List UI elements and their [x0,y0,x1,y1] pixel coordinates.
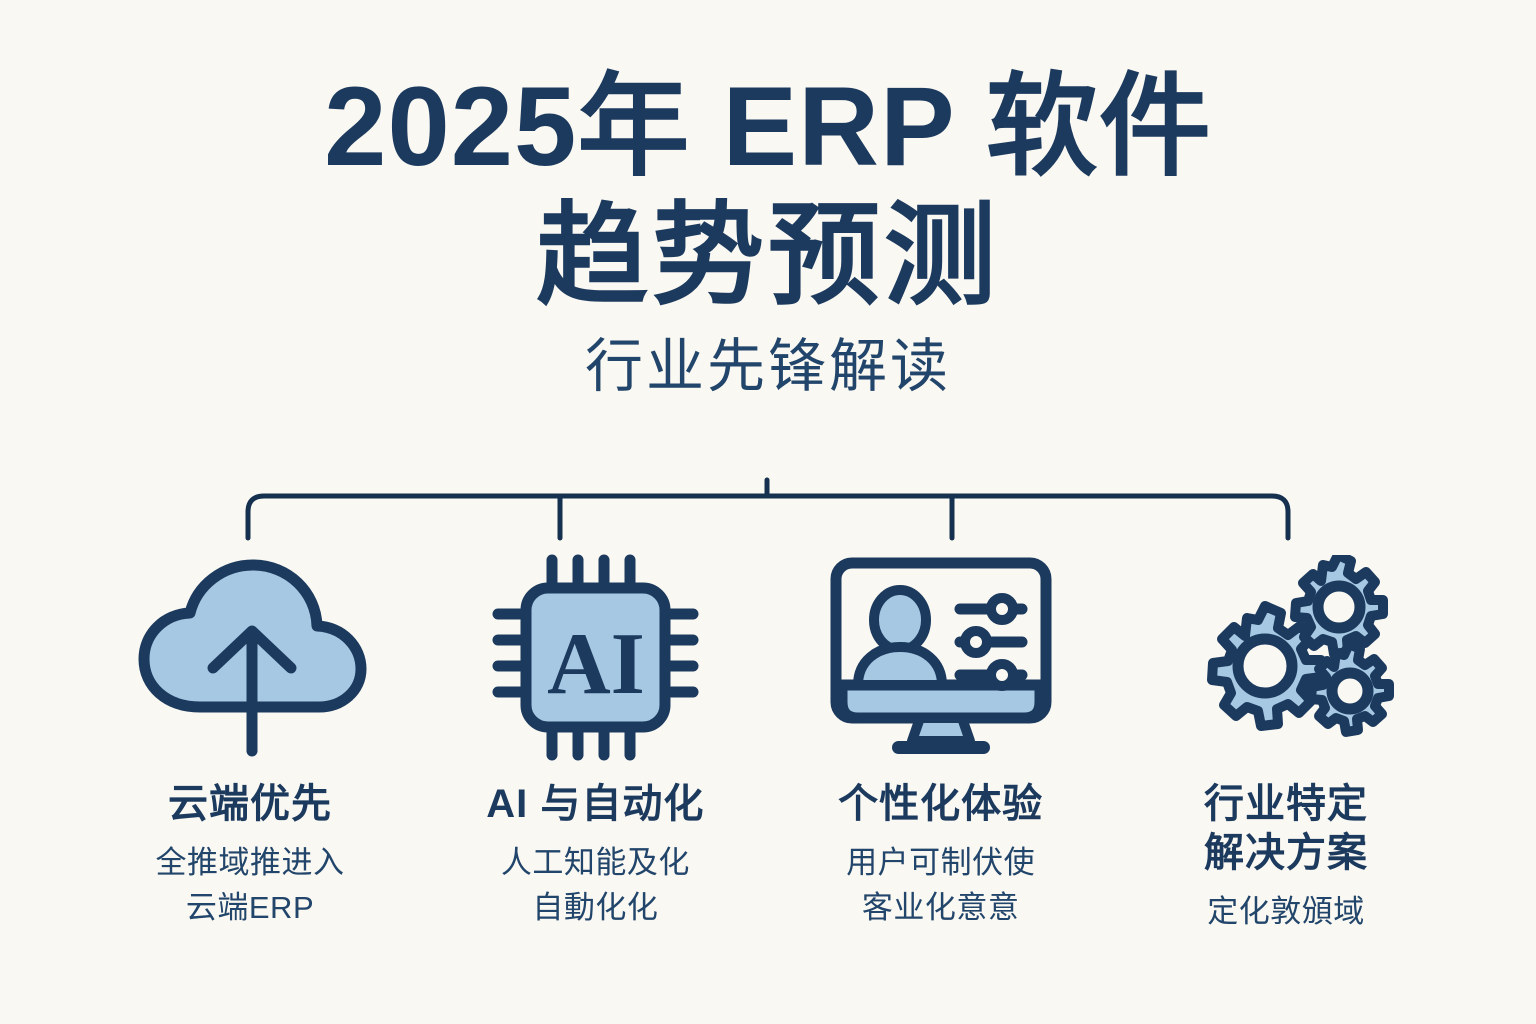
bracket-connector [0,470,1536,560]
trend-title-cloud-first: 云端优先 [168,780,332,829]
page-title-line-2: 趋势预测 [0,192,1536,320]
monitor-foot [892,741,990,754]
trend-title-ai-automation: AI 与自动化 [486,780,704,829]
personalization-monitor-icon [826,548,1056,766]
trend-desc-cloud-first: 全推域推进入 云端ERP [156,841,345,931]
trend-column-personalization[interactable]: 个性化体验 用户可制伏使 客业化意意 [781,548,1101,931]
avatar-body [858,647,942,685]
ai-chip-icon: AI [488,548,703,766]
cloud-upload-icon [130,548,370,766]
trend-title-industry-solutions: 行业特定 解决方案 [1204,780,1368,878]
title-block: 2025年 ERP 软件 趋势预测 行业先锋解读 [0,62,1536,400]
infographic-poster: 2025年 ERP 软件 趋势预测 行业先锋解读 [0,0,1536,1024]
monitor-neck [912,718,970,741]
trend-column-industry-solutions[interactable]: 行业特定 解决方案 定化敦頒域 [1126,548,1446,935]
trend-column-cloud-first[interactable]: 云端优先 全推域推进入 云端ERP [90,548,410,931]
chip-ai-label: AI [547,616,645,713]
trend-desc-industry-solutions: 定化敦頒域 [1207,890,1365,935]
page-subtitle: 行业先锋解读 [0,334,1536,401]
gear-medium [1295,555,1383,654]
page-title-line-1: 2025年 ERP 软件 [0,62,1536,192]
gears-icon [1171,548,1401,766]
bracket-rail [248,496,1288,538]
trend-column-ai-automation[interactable]: AI AI 与自动化 人工知能及化 自動化化 [435,548,755,931]
trend-title-personalization: 个性化体验 [838,780,1043,829]
trend-columns: 云端优先 全推域推进入 云端ERP [90,548,1446,935]
avatar-head [874,590,926,650]
trend-desc-personalization: 用户可制伏使 客业化意意 [846,841,1035,931]
trend-desc-ai-automation: 人工知能及化 自動化化 [501,841,690,931]
